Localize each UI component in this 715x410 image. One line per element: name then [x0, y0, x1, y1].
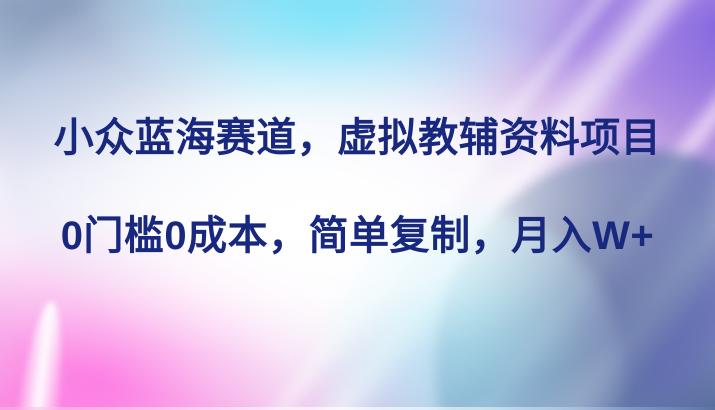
poster-canvas: 小众蓝海赛道，虚拟教辅资料项目 0门槛0成本，简单复制，月入W+ [0, 0, 715, 410]
headline-line-2: 0门槛0成本，简单复制，月入W+ [0, 216, 715, 256]
headline-line-1: 小众蓝海赛道，虚拟教辅资料项目 [0, 118, 715, 158]
headline-block: 小众蓝海赛道，虚拟教辅资料项目 0门槛0成本，简单复制，月入W+ [0, 118, 715, 256]
